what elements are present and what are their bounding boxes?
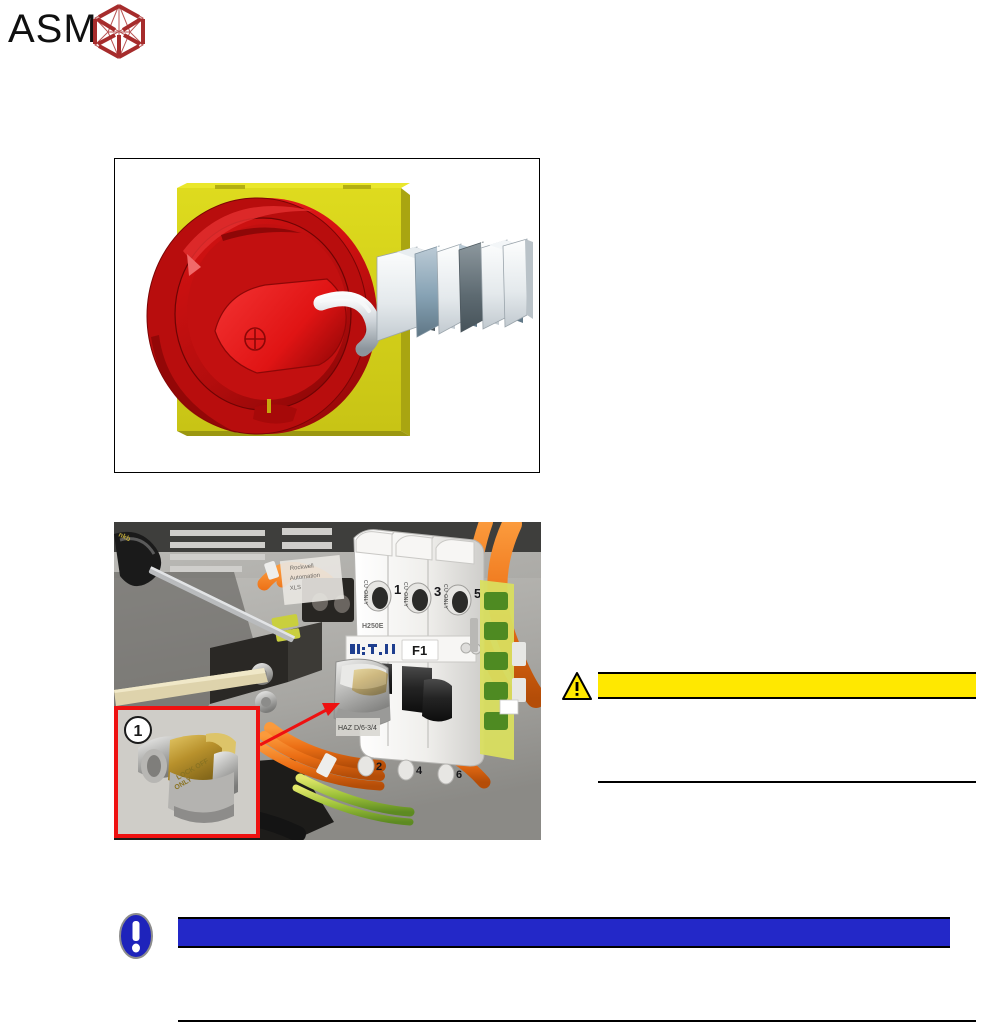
- warning-triangle-icon: [562, 672, 592, 700]
- svg-text:6: 6: [456, 769, 462, 781]
- svg-text:CU ONLY: CU ONLY: [362, 580, 368, 606]
- notice-exclamation-icon: [118, 912, 154, 960]
- svg-text:F1: F1: [412, 643, 427, 658]
- notice-admonition: [118, 908, 976, 1024]
- hexagon-wireframe-icon: [88, 2, 150, 60]
- svg-text:2: 2: [376, 761, 382, 773]
- svg-text:XLS: XLS: [290, 585, 302, 592]
- page-header: ASM: [0, 0, 992, 70]
- svg-text:3: 3: [434, 584, 441, 599]
- svg-text:CU ONLY: CU ONLY: [402, 582, 408, 608]
- breaker-device: 1 3 5 CU ONLY CU ONLY CU ONLY H250E: [346, 530, 484, 784]
- warning-body-text: [598, 703, 976, 779]
- notice-bottom-rule: [178, 1020, 976, 1022]
- brand-wordmark: ASM: [8, 7, 98, 51]
- inset-detail-panel: LOCK OFF ONLY 1: [116, 708, 258, 836]
- warning-bottom-rule: [598, 781, 976, 783]
- svg-text:1: 1: [134, 723, 143, 740]
- svg-text:HAZ D/6-3/4: HAZ D/6-3/4: [338, 725, 377, 732]
- rotary-switch-handle: [147, 198, 377, 434]
- warning-admonition: [562, 668, 976, 784]
- figure-breaker-lockout-photo: 1 3 5 CU ONLY CU ONLY CU ONLY H250E: [114, 522, 541, 840]
- device-tag-label: F1: [402, 640, 438, 660]
- svg-text:4: 4: [416, 765, 423, 777]
- knob-screw-icon: [245, 328, 265, 350]
- svg-text:1: 1: [394, 582, 401, 597]
- notice-body-text: [178, 952, 950, 1016]
- callout-badge-1: 1: [125, 717, 151, 743]
- svg-text:CU ONLY: CU ONLY: [442, 584, 448, 610]
- warning-banner: [598, 672, 976, 699]
- figure-lockout-switch-render: [114, 158, 540, 473]
- svg-text:H250E: H250E: [362, 623, 384, 630]
- notice-banner: [178, 917, 950, 948]
